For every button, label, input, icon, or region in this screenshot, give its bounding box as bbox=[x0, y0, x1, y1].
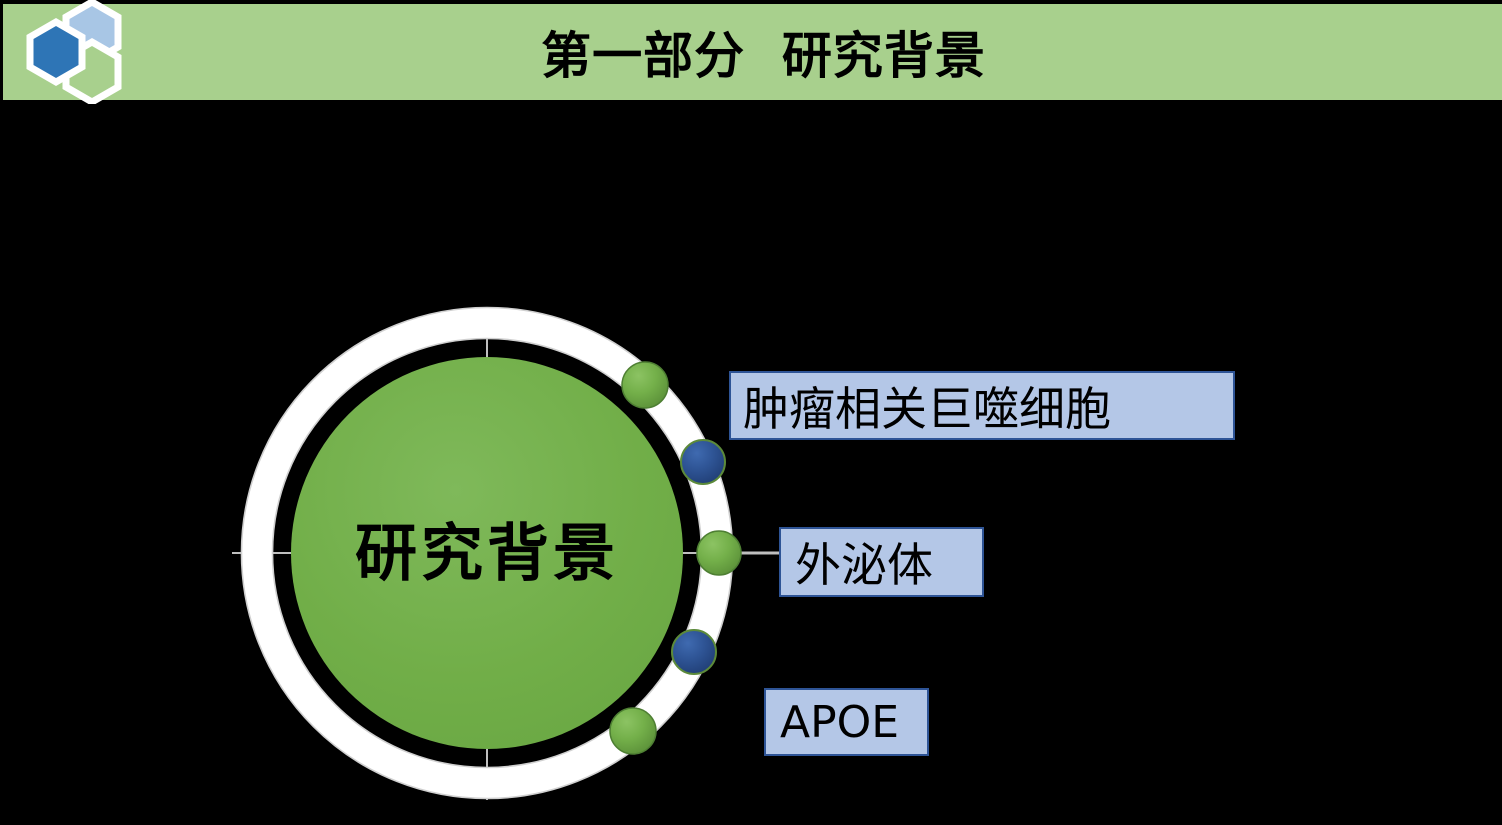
node-green-bottom[interactable] bbox=[610, 708, 656, 754]
node-blue-lower[interactable] bbox=[672, 630, 716, 674]
node-blue-upper[interactable] bbox=[681, 440, 725, 484]
center-circle-label: 研究背景 bbox=[355, 517, 619, 590]
node-green-middle[interactable] bbox=[697, 531, 741, 575]
label-tumor-associated-macrophages[interactable]: 肿瘤相关巨噬细胞 bbox=[729, 371, 1235, 440]
slide-canvas: 第一部分 研究背景 bbox=[0, 0, 1502, 825]
node-green-top[interactable] bbox=[622, 362, 668, 408]
label-apoe[interactable]: APOE bbox=[764, 688, 929, 756]
label-exosome[interactable]: 外泌体 bbox=[779, 527, 984, 597]
